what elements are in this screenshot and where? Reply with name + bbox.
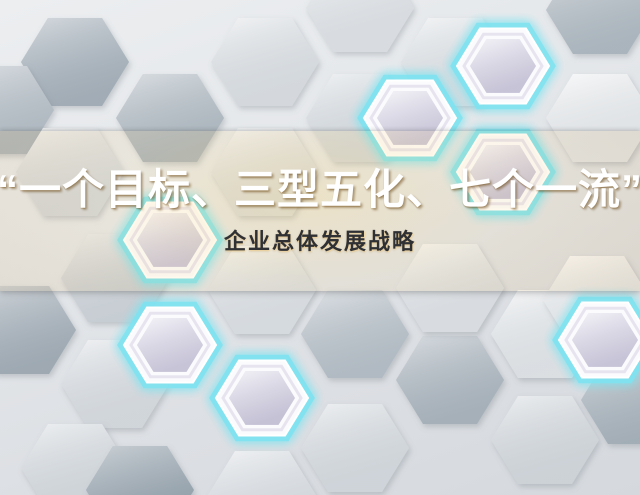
hex-flat-dark-7-sheen	[396, 336, 504, 424]
hex-flat-dark-4-sheen	[546, 0, 640, 54]
hex-glow-top-1	[453, 25, 553, 106]
hex-flat-mid-5-sheen	[301, 404, 409, 492]
hex-glow-bot-1	[120, 304, 220, 385]
hex-flat-dark-6-sheen	[301, 290, 409, 378]
hex-flat-mid-3-sheen	[306, 0, 414, 52]
title-banner: “一个目标、三型五化、七个一流” 企业总体发展战略	[0, 131, 640, 291]
banner-title: “一个目标、三型五化、七个一流”	[0, 169, 640, 211]
hex-flat-mid-1-sheen	[211, 18, 319, 106]
banner-subtitle: 企业总体发展战略	[224, 231, 416, 253]
hex-flat-dark-5-sheen	[0, 286, 76, 374]
hex-flat-mid-6-sheen	[208, 451, 316, 495]
slide-canvas: “一个目标、三型五化、七个一流” 企业总体发展战略	[0, 0, 640, 495]
hex-flat-mid-4-sheen	[491, 396, 599, 484]
hex-glow-bot-2	[212, 357, 312, 438]
